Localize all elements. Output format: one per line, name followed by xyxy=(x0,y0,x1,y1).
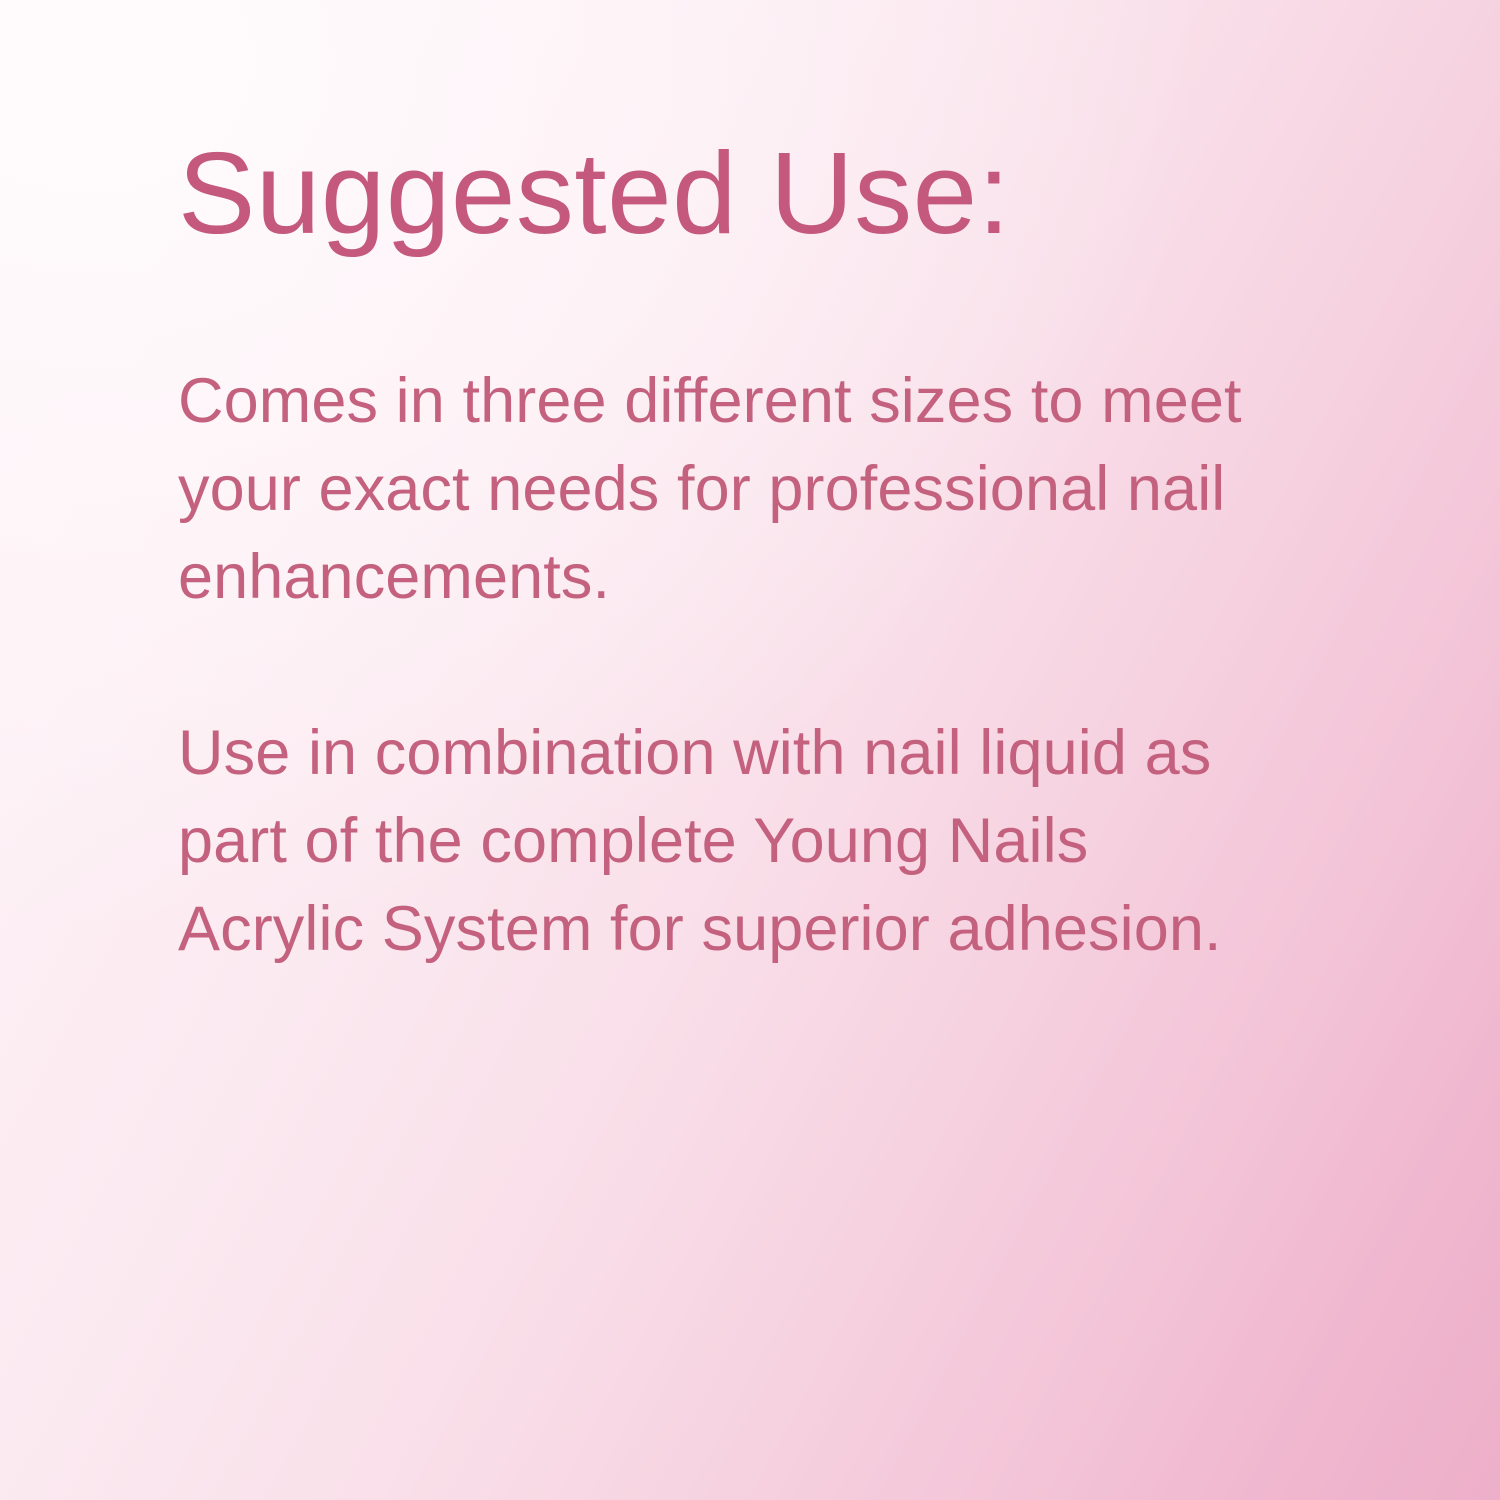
page-title: Suggested Use: xyxy=(178,132,1010,255)
body-text-block: Comes in three different sizes to meet y… xyxy=(178,357,1263,973)
suggested-use-card: Suggested Use: Comes in three different … xyxy=(0,0,1500,1500)
content-area: Suggested Use: Comes in three different … xyxy=(178,0,1288,1500)
paragraph-usage: Use in combination with nail liquid as p… xyxy=(178,709,1263,973)
paragraph-sizes: Comes in three different sizes to meet y… xyxy=(178,357,1263,621)
